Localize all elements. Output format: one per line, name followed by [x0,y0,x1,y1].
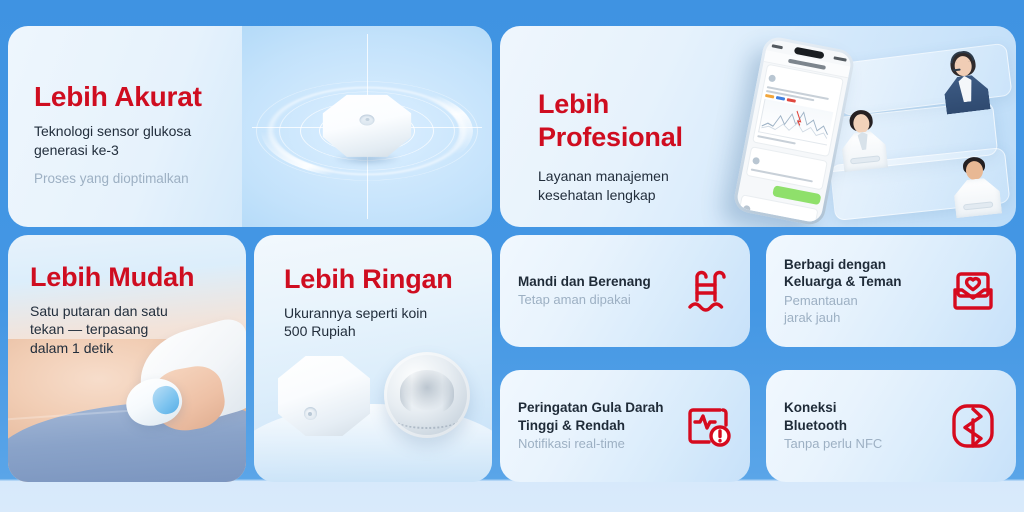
bluetooth-icon [944,397,1002,455]
share-note: Pemantauan jarak jauh [784,293,944,327]
card-feature-swim[interactable]: Mandi dan Berenang Tetap aman dipakai [500,235,750,347]
white-coat [840,130,888,172]
card-lebih-profesional[interactable]: Lebih Profesional Layanan manajemen kese… [500,26,1016,227]
card-feature-bluetooth[interactable]: Koneksi Bluetooth Tanpa perlu NFC [766,370,1016,482]
page-background: Lebih Akurat Teknologi sensor glukosa ge… [0,0,1024,512]
envelope-heart-icon [944,262,1002,320]
glucose-sensor-device [321,94,413,160]
feature-board: Lebih Akurat Teknologi sensor glukosa ge… [8,26,1016,482]
sensor-illustration [242,26,492,227]
bluetooth-text: Koneksi Bluetooth Tanpa perlu NFC [784,399,944,453]
avatar [768,74,776,82]
swimming-pool-icon [678,262,736,320]
swim-note: Tetap aman dipakai [518,292,678,309]
card-feature-alert[interactable]: Peringatan Gula Darah Tinggi & Rendah No… [500,370,750,482]
sensor-octagon [278,356,370,436]
sensor-body [321,94,413,160]
profesional-text-block: Lebih Profesional Layanan manajemen kese… [538,88,683,204]
akurat-subtitle: Teknologi sensor glukosa generasi ke-3 [34,122,202,160]
chat-body [742,64,844,211]
mudah-heading: Lebih Mudah [30,263,194,293]
alert-title: Peringatan Gula Darah Tinggi & Rendah [518,399,678,434]
akurat-note: Proses yang dioptimalkan [34,170,202,188]
white-coat [952,177,1002,219]
ringan-text-block: Lebih Ringan Ukurannya seperti koin 500 … [284,265,453,341]
card-lebih-akurat[interactable]: Lebih Akurat Teknologi sensor glukosa ge… [8,26,492,227]
avatar [743,205,751,213]
bluetooth-note: Tanpa perlu NFC [784,436,944,453]
mudah-text-block: Lebih Mudah Satu putaran dan satu tekan … [30,263,194,358]
card-lebih-mudah[interactable]: Lebih Mudah Satu putaran dan satu tekan … [8,235,246,482]
akurat-heading: Lebih Akurat [34,82,202,113]
swim-title: Mandi dan Berenang [518,273,678,291]
ringan-heading: Lebih Ringan [284,265,453,295]
octagon-body [278,356,370,436]
monitor-alert-icon [678,397,736,455]
card-feature-share[interactable]: Berbagi dengan Keluarga & Teman Pemantau… [766,235,1016,347]
portrait-doctor-female [837,106,889,172]
swim-text: Mandi dan Berenang Tetap aman dipakai [518,273,678,309]
bluetooth-title: Koneksi Bluetooth [784,399,944,434]
navy-suit [943,73,991,114]
sensor-center-dot [360,114,375,125]
alert-note: Notifikasi real-time [518,436,678,453]
rupiah-coin [384,352,470,438]
akurat-text-block: Lebih Akurat Teknologi sensor glukosa ge… [34,82,202,188]
card-lebih-ringan[interactable]: Lebih Ringan Ukurannya seperti koin 500 … [254,235,492,482]
portrait-support-agent [938,47,991,114]
mudah-subtitle: Satu putaran dan satu tekan — terpasang … [30,302,194,358]
profesional-heading: Lebih Profesional [538,88,683,154]
chat-bubble-chart [752,64,844,157]
octagon-center-dot [304,407,317,420]
profesional-subtitle: Layanan manajemen kesehatan lengkap [538,167,683,205]
share-title: Berbagi dengan Keluarga & Teman [784,256,944,291]
ringan-subtitle: Ukurannya seperti koin 500 Rupiah [284,304,453,342]
share-text: Berbagi dengan Keluarga & Teman Pemantau… [784,256,944,327]
alert-text: Peringatan Gula Darah Tinggi & Rendah No… [518,399,678,453]
portrait-doctor-male [949,152,1003,219]
avatar [752,157,760,165]
